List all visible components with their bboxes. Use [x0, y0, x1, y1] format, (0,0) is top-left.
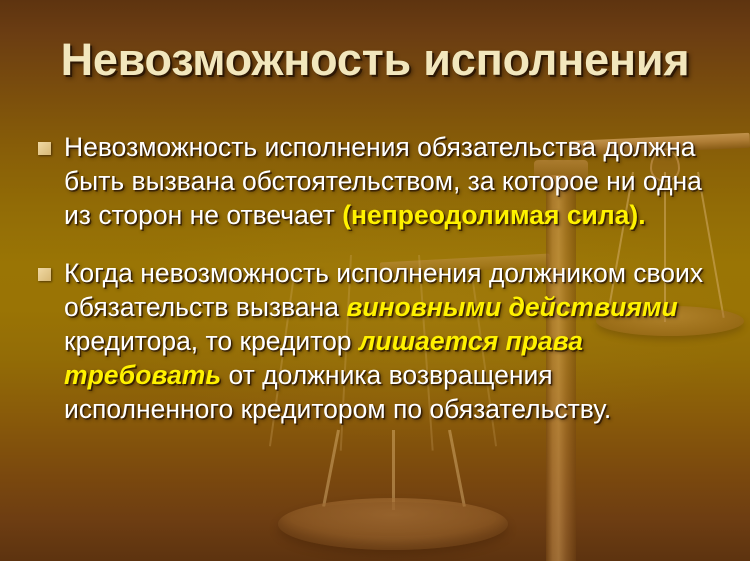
- square-bullet-icon: [38, 268, 51, 281]
- bullet-run-plain: кредитора, то кредитор: [64, 326, 359, 356]
- bullet-item-text: Когда невозможность исполнения должником…: [64, 256, 718, 426]
- square-bullet-icon: [38, 142, 51, 155]
- bullet-item: Невозможность исполнения обязательства д…: [38, 130, 718, 232]
- bullet-run-highlight: (непреодолимая сила).: [342, 200, 645, 230]
- slide-content: Невозможность исполнения Невозможность и…: [0, 0, 750, 561]
- bullet-item: Когда невозможность исполнения должником…: [38, 256, 718, 426]
- slide-title: Невозможность исполнения: [0, 36, 750, 83]
- bullet-list: Невозможность исполнения обязательства д…: [38, 130, 718, 450]
- bullet-item-text: Невозможность исполнения обязательства д…: [64, 130, 718, 232]
- bullet-run-highlight: виновными действиями: [346, 292, 677, 322]
- presentation-slide: Невозможность исполнения Невозможность и…: [0, 0, 750, 561]
